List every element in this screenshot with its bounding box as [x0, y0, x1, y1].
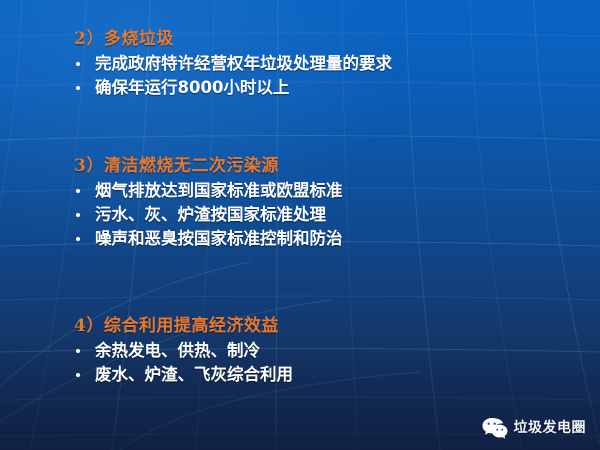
list-item-text: 废水、炉渣、飞灰综合利用: [95, 365, 293, 384]
bullet-dot-icon: [76, 237, 80, 241]
section-4-bullet-list: 余热发电、供热、制冷 废水、炉渣、飞灰综合利用: [0, 339, 600, 387]
section-4-heading: 4）综合利用提高经济效益: [0, 313, 600, 339]
bullet-dot-icon: [76, 373, 80, 377]
list-item-text: 余热发电、供热、制冷: [95, 341, 260, 360]
list-item: 烟气排放达到国家标准或欧盟标准: [0, 179, 600, 203]
wechat-icon: [482, 417, 508, 439]
section-3: 3）清洁燃烧无二次污染源 烟气排放达到国家标准或欧盟标准 污水、灰、炉渣按国家标…: [0, 153, 600, 251]
section-3-title: 清洁燃烧无二次污染源: [104, 156, 279, 176]
watermark-text: 垃圾发电圈: [514, 420, 587, 436]
section-2-bullet-list: 完成政府特许经营权年垃圾处理量的要求 确保年运行8000小时以上: [0, 52, 600, 100]
section-3-bullet-list: 烟气排放达到国家标准或欧盟标准 污水、灰、炉渣按国家标准处理 噪声和恶臭按国家标…: [0, 179, 600, 251]
section-2-title: 多烧垃圾: [104, 29, 174, 49]
section-2-heading: 2）多烧垃圾: [0, 26, 600, 52]
list-item-text: 完成政府特许经营权年垃圾处理量的要求: [95, 54, 392, 73]
section-2-number: 2）: [74, 29, 104, 49]
watermark: 垃圾发电圈: [482, 417, 587, 439]
bullet-dot-icon: [76, 213, 80, 217]
section-4: 4）综合利用提高经济效益 余热发电、供热、制冷 废水、炉渣、飞灰综合利用: [0, 313, 600, 387]
bullet-dot-icon: [76, 349, 80, 353]
list-item: 废水、炉渣、飞灰综合利用: [0, 363, 600, 387]
slide-canvas: 2）多烧垃圾 完成政府特许经营权年垃圾处理量的要求 确保年运行8000小时以上 …: [0, 0, 600, 450]
section-4-number: 4）: [74, 316, 104, 336]
list-item: 完成政府特许经营权年垃圾处理量的要求: [0, 52, 600, 76]
list-item-text: 噪声和恶臭按国家标准控制和防治: [95, 229, 343, 248]
section-2: 2）多烧垃圾 完成政府特许经营权年垃圾处理量的要求 确保年运行8000小时以上: [0, 26, 600, 100]
list-item: 确保年运行8000小时以上: [0, 76, 600, 100]
list-item: 污水、灰、炉渣按国家标准处理: [0, 203, 600, 227]
section-3-heading: 3）清洁燃烧无二次污染源: [0, 153, 600, 179]
bullet-dot-icon: [76, 189, 80, 193]
list-item-text: 烟气排放达到国家标准或欧盟标准: [95, 181, 343, 200]
section-4-title: 综合利用提高经济效益: [104, 316, 279, 336]
list-item: 余热发电、供热、制冷: [0, 339, 600, 363]
list-item: 噪声和恶臭按国家标准控制和防治: [0, 227, 600, 251]
list-item-text: 确保年运行8000小时以上: [95, 78, 289, 97]
bullet-dot-icon: [76, 86, 80, 90]
list-item-text: 污水、灰、炉渣按国家标准处理: [95, 205, 326, 224]
bullet-dot-icon: [76, 62, 80, 66]
section-3-number: 3）: [74, 156, 104, 176]
slide-content: 2）多烧垃圾 完成政府特许经营权年垃圾处理量的要求 确保年运行8000小时以上 …: [0, 0, 600, 450]
